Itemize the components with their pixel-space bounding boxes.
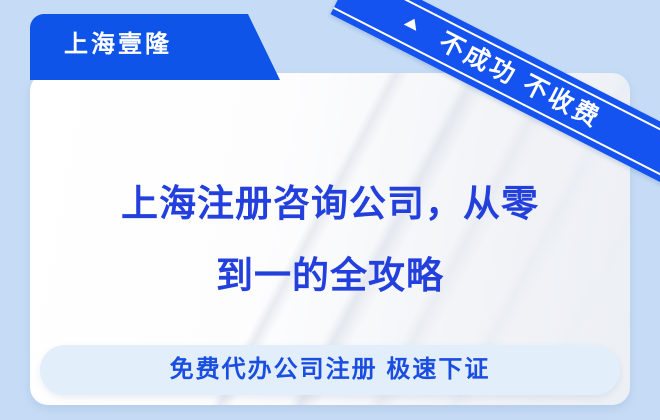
subtitle-bar-label: 免费代办公司注册 极速下证: [40, 345, 620, 395]
brand-tab-label: 上海壹隆: [64, 28, 172, 62]
subtitle-bar: 免费代办公司注册 极速下证: [40, 345, 620, 395]
main-card: 上海注册咨询公司，从零 到一的全攻略 免费代办公司注册 极速下证: [30, 73, 630, 405]
promo-poster: 上海壹隆 上海注册咨询公司，从零 到一的全攻略 免费代办公司注册 极速下证 不成…: [0, 0, 660, 420]
headline-line-2: 到一的全攻略: [30, 240, 630, 312]
brand-tab: 上海壹隆: [30, 14, 280, 80]
triangle-up-icon: [404, 16, 421, 31]
headline-line-1: 上海注册咨询公司，从零: [30, 168, 630, 240]
headline: 上海注册咨询公司，从零 到一的全攻略: [30, 168, 630, 312]
